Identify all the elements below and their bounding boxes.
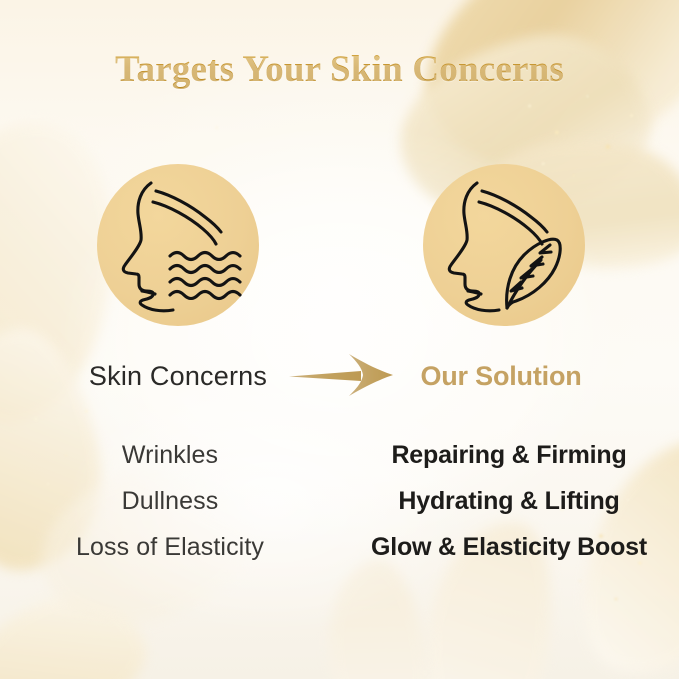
list-item: Wrinkles [0,432,340,478]
face-profile-feather-icon [423,164,585,326]
column-heading-solution: Our Solution [323,361,679,392]
list-item: Glow & Elasticity Boost [339,524,679,570]
list-item: Loss of Elasticity [0,524,340,570]
list-item: Repairing & Firming [339,432,679,478]
list-item: Hydrating & Lifting [339,478,679,524]
page-title: Targets Your Skin Concerns [0,48,679,91]
list-item: Dullness [0,478,340,524]
skincare-benefits-graphic: Targets Your Skin Concerns [0,0,679,679]
solutions-list: Repairing & Firming Hydrating & Lifting … [339,432,679,570]
concerns-list: Wrinkles Dullness Loss of Elasticity [0,432,340,570]
face-profile-wrinkles-icon [97,164,259,326]
